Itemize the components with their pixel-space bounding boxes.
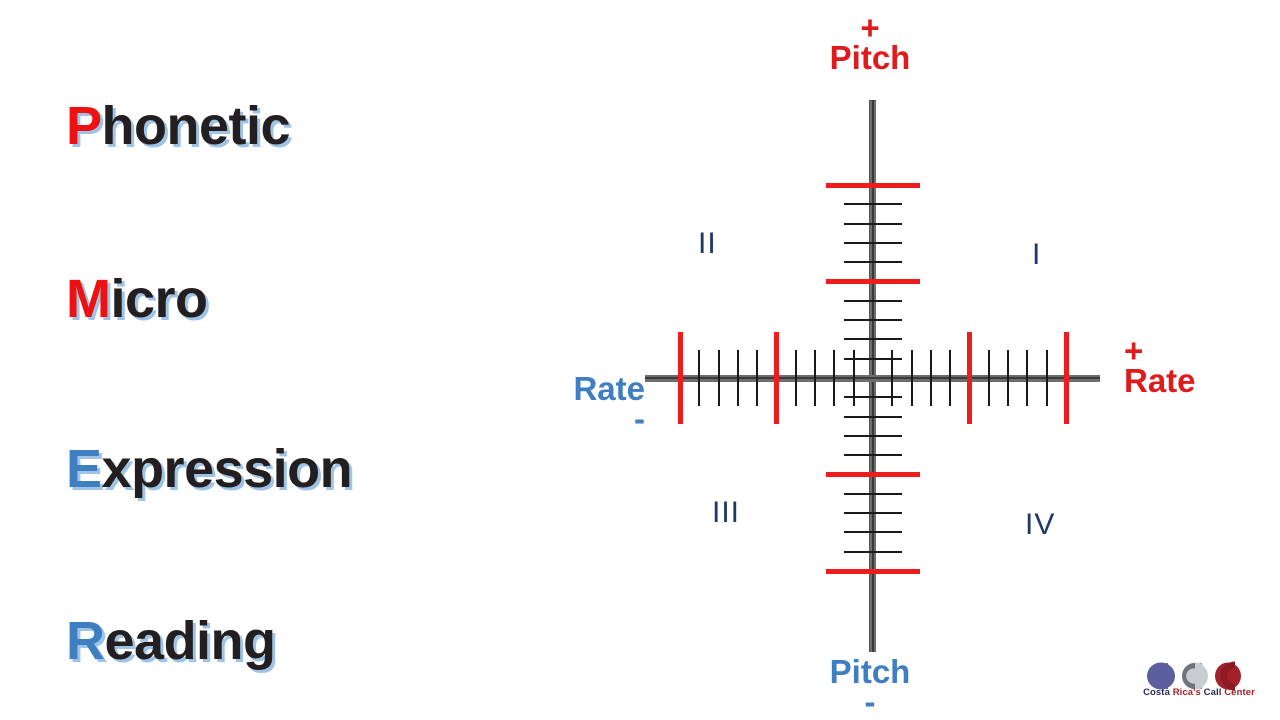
quadrant-label-ii: II bbox=[698, 227, 717, 261]
major-tick-y-neg-5 bbox=[826, 472, 920, 477]
minor-tick-x-neg-6 bbox=[756, 350, 758, 406]
pitch-rate-quadrant-chart: + Pitch Pitch - Rate - + Rate I II III I… bbox=[520, 0, 1280, 720]
minor-tick-y-neg-4 bbox=[844, 454, 902, 456]
quadrant-label-iv: IV bbox=[1025, 508, 1055, 542]
logo-word-ricas: Rica's bbox=[1173, 687, 1204, 698]
axis-label-pitch-negative: Pitch - bbox=[820, 655, 920, 715]
pitch-positive-sign: + bbox=[820, 14, 920, 41]
minor-tick-y-pos-6 bbox=[844, 261, 902, 263]
rate-positive-text: Rate bbox=[1124, 362, 1196, 399]
acronym-rest-micro: icro bbox=[110, 269, 207, 329]
minor-tick-x-pos-2 bbox=[911, 350, 913, 406]
acronym-item-micro: Micro bbox=[66, 268, 208, 330]
acronym-item-reading: Reading bbox=[66, 610, 276, 672]
minor-tick-x-pos-7 bbox=[1007, 350, 1009, 406]
minor-tick-x-pos-3 bbox=[930, 350, 932, 406]
minor-tick-y-pos-9 bbox=[844, 203, 902, 205]
horizontal-axis-core bbox=[645, 377, 1100, 379]
minor-tick-x-neg-1 bbox=[853, 350, 855, 406]
minor-tick-x-pos-6 bbox=[988, 350, 990, 406]
minor-tick-x-neg-7 bbox=[737, 350, 739, 406]
acronym-initial-m: M bbox=[66, 269, 110, 329]
acronym-initial-p: P bbox=[66, 96, 102, 156]
minor-tick-x-neg-9 bbox=[698, 350, 700, 406]
minor-tick-x-pos-9 bbox=[1046, 350, 1048, 406]
major-tick-x-neg-10 bbox=[678, 332, 683, 424]
major-tick-y-pos-5 bbox=[826, 279, 920, 284]
major-tick-x-pos-10 bbox=[1064, 332, 1069, 424]
quadrant-label-i: I bbox=[1032, 238, 1041, 272]
company-logo: Costa Rica's Call Center bbox=[1134, 661, 1264, 711]
minor-tick-y-pos-2 bbox=[844, 338, 902, 340]
minor-tick-y-pos-4 bbox=[844, 300, 902, 302]
minor-tick-y-neg-7 bbox=[844, 512, 902, 514]
acronym-rest-phonetic: honetic bbox=[102, 96, 291, 156]
axis-label-rate-negative: Rate - bbox=[520, 372, 645, 432]
logo-word-call: Call bbox=[1204, 687, 1225, 698]
axis-label-rate-positive: + Rate bbox=[1124, 337, 1244, 397]
minor-tick-y-neg-3 bbox=[844, 435, 902, 437]
minor-tick-x-pos-4 bbox=[949, 350, 951, 406]
minor-tick-y-pos-8 bbox=[844, 223, 902, 225]
rate-negative-sign: - bbox=[520, 405, 645, 432]
acronym-item-phonetic: Phonetic bbox=[66, 95, 290, 157]
rate-positive-sign: + bbox=[1124, 337, 1244, 364]
acronym-rest-expression: xpression bbox=[102, 439, 353, 499]
acronym-initial-r: R bbox=[66, 611, 105, 671]
minor-tick-y-neg-6 bbox=[844, 493, 902, 495]
quadrant-label-iii: III bbox=[712, 496, 740, 530]
logo-word-center: Center bbox=[1224, 687, 1255, 698]
minor-tick-x-neg-8 bbox=[718, 350, 720, 406]
acronym-rest-reading: eading bbox=[105, 611, 276, 671]
acronym-item-expression: Expression bbox=[66, 438, 352, 500]
minor-tick-x-neg-4 bbox=[795, 350, 797, 406]
minor-tick-y-pos-7 bbox=[844, 242, 902, 244]
minor-tick-y-pos-3 bbox=[844, 319, 902, 321]
minor-tick-y-neg-2 bbox=[844, 416, 902, 418]
major-tick-y-neg-10 bbox=[826, 569, 920, 574]
major-tick-x-neg-5 bbox=[774, 332, 779, 424]
major-tick-y-pos-10 bbox=[826, 183, 920, 188]
acronym-list: Phonetic Micro Expression Reading bbox=[0, 0, 520, 720]
logo-word-costa: Costa bbox=[1143, 687, 1173, 698]
minor-tick-y-neg-8 bbox=[844, 531, 902, 533]
minor-tick-x-pos-8 bbox=[1026, 350, 1028, 406]
minor-tick-y-neg-9 bbox=[844, 551, 902, 553]
pitch-positive-text: Pitch bbox=[830, 39, 911, 76]
major-tick-x-pos-5 bbox=[967, 332, 972, 424]
minor-tick-x-neg-3 bbox=[814, 350, 816, 406]
logo-wordmark: Costa Rica's Call Center bbox=[1134, 687, 1264, 698]
axis-label-pitch-positive: + Pitch bbox=[820, 14, 920, 74]
minor-tick-x-neg-2 bbox=[833, 350, 835, 406]
acronym-initial-e: E bbox=[66, 439, 102, 499]
pitch-negative-sign: - bbox=[820, 688, 920, 715]
minor-tick-x-pos-1 bbox=[891, 350, 893, 406]
